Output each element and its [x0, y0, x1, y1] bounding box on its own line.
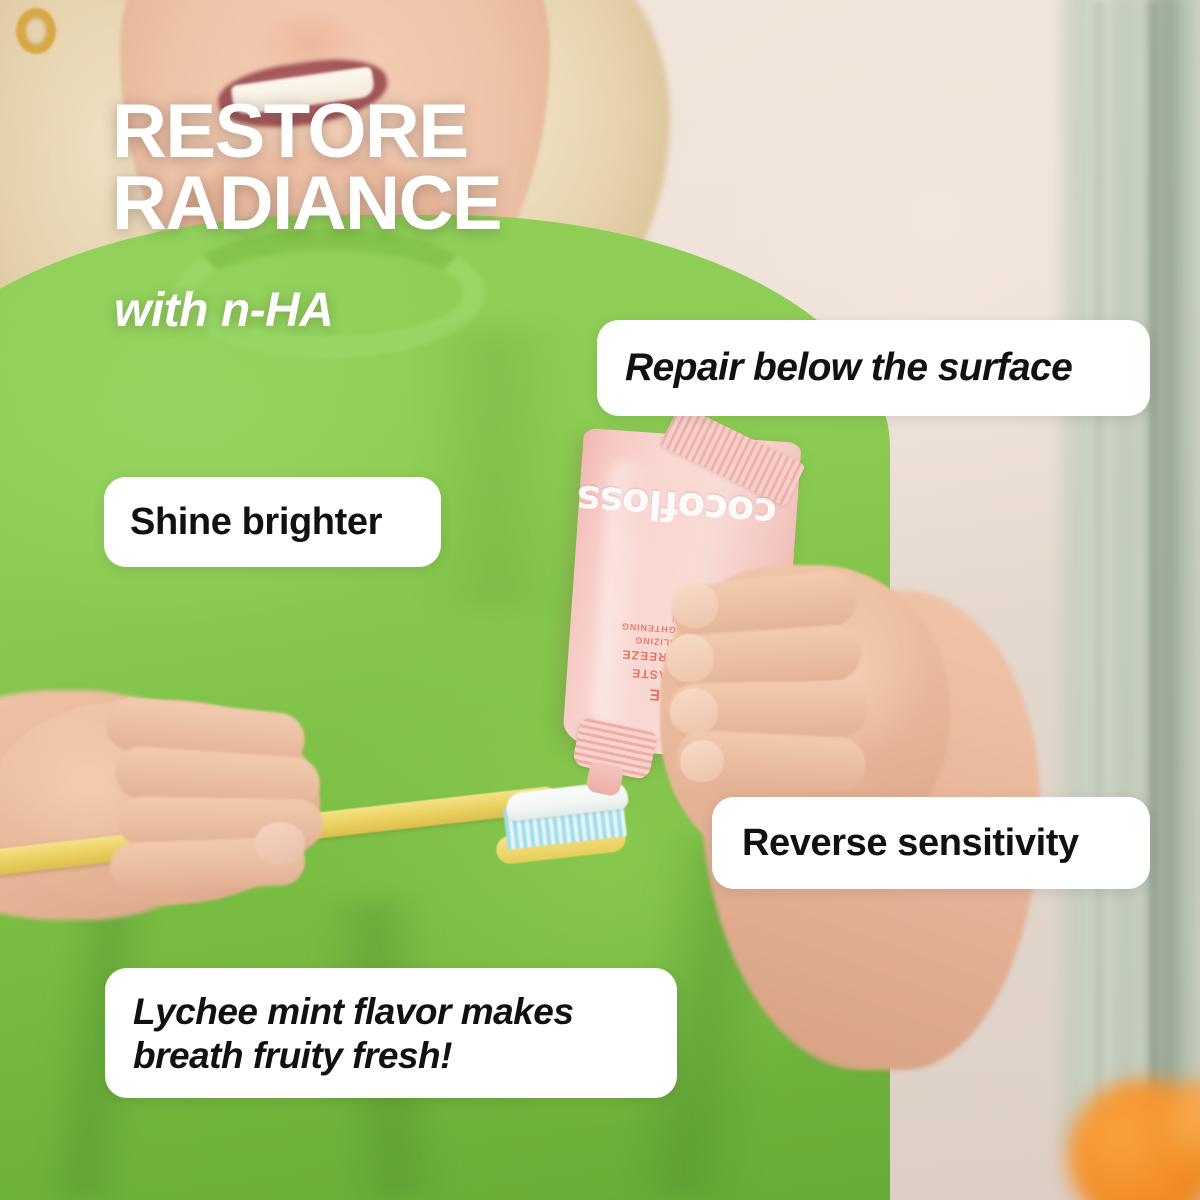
fingernail	[255, 822, 305, 864]
callout-lychee-line-2: breath fruity fresh!	[133, 1034, 677, 1078]
fabric-fold	[420, 330, 570, 610]
callout-shine-brighter: Shine brighter	[104, 477, 441, 567]
callout-lychee-mint-flavor: Lychee mint flavor makes breath fruity f…	[105, 968, 677, 1098]
fingernail	[666, 634, 714, 682]
callout-lychee-line-1: Lychee mint flavor makes	[133, 990, 677, 1034]
ad-creative: cocofloss SHINE TOOTHPASTE LYCHEE BREEZE…	[0, 0, 1200, 1200]
towel-fold-icon	[1094, 0, 1104, 1200]
towel	[1056, 0, 1200, 1150]
headline: RESTORE RADIANCE	[112, 96, 501, 240]
fingernail	[672, 582, 718, 628]
callout-repair-below-the-surface: Repair below the surface	[597, 320, 1150, 416]
fingernail	[680, 740, 724, 782]
gold-hoop-earring-icon	[16, 8, 56, 54]
subheadline: with n-HA	[114, 283, 333, 338]
callout-reverse-sensitivity: Reverse sensitivity	[712, 797, 1150, 889]
headline-line-2: RADIANCE	[112, 168, 501, 240]
fingernail	[670, 688, 718, 734]
towel-fold-icon	[1148, 0, 1158, 1200]
